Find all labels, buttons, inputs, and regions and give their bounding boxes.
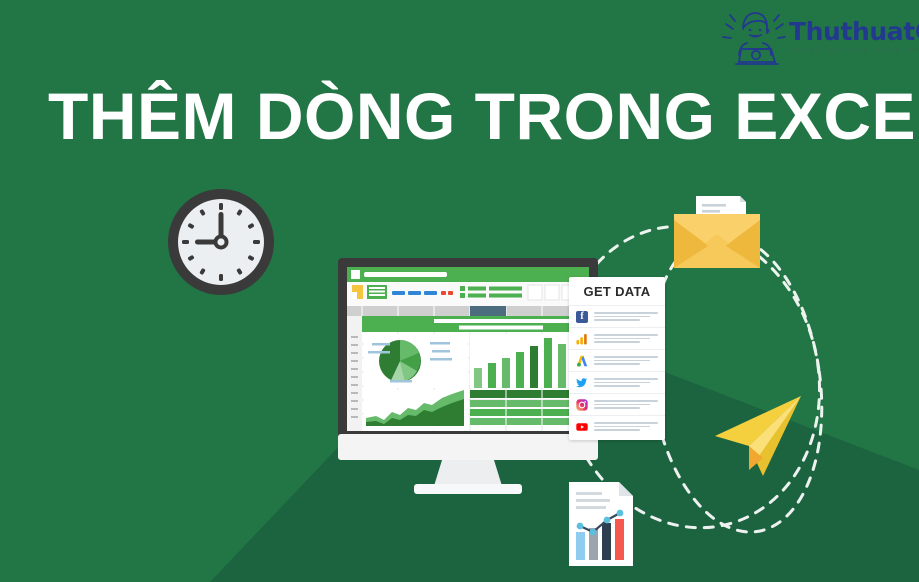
list-item[interactable] xyxy=(569,349,665,371)
list-item-lines xyxy=(594,400,658,409)
pie-chart xyxy=(379,340,421,382)
list-item-lines xyxy=(594,356,658,365)
brand-name: ThuthuatOffice xyxy=(789,19,919,44)
instagram-icon xyxy=(576,399,588,411)
desktop-monitor-icon xyxy=(338,258,598,498)
list-item[interactable]: f xyxy=(569,305,665,327)
list-item[interactable] xyxy=(569,327,665,349)
page-title: THÊM DÒNG TRONG EXCEL xyxy=(48,78,878,154)
list-item-lines xyxy=(594,422,658,431)
brand-logo[interactable]: ThuthuatOffice TRI KỶ CỦA DÂN CÔNG SỞ xyxy=(723,6,913,68)
paper-plane-icon xyxy=(705,388,813,486)
list-item-lines xyxy=(594,378,658,387)
brand-tagline: TRI KỶ CỦA DÂN CÔNG SỞ xyxy=(789,49,919,55)
list-item[interactable] xyxy=(569,393,665,415)
wall-clock-icon xyxy=(165,186,277,298)
poster-canvas: ThuthuatOffice TRI KỶ CỦA DÂN CÔNG SỞ TH… xyxy=(0,0,919,582)
google-ads-icon xyxy=(576,355,588,367)
list-item[interactable] xyxy=(569,415,665,437)
report-document-icon xyxy=(565,478,637,570)
twitter-icon xyxy=(576,377,588,389)
brand-text: ThuthuatOffice TRI KỶ CỦA DÂN CÔNG SỞ xyxy=(789,19,919,55)
list-item-lines xyxy=(594,334,658,343)
list-item-lines xyxy=(594,312,658,321)
person-at-laptop-icon xyxy=(723,7,785,67)
get-data-card[interactable]: GET DATA f xyxy=(569,277,665,440)
envelope-with-report-icon xyxy=(670,186,764,270)
facebook-icon: f xyxy=(576,311,588,323)
get-data-title: GET DATA xyxy=(569,277,665,305)
youtube-icon xyxy=(576,421,588,433)
google-analytics-icon xyxy=(576,333,588,345)
list-item[interactable] xyxy=(569,371,665,393)
